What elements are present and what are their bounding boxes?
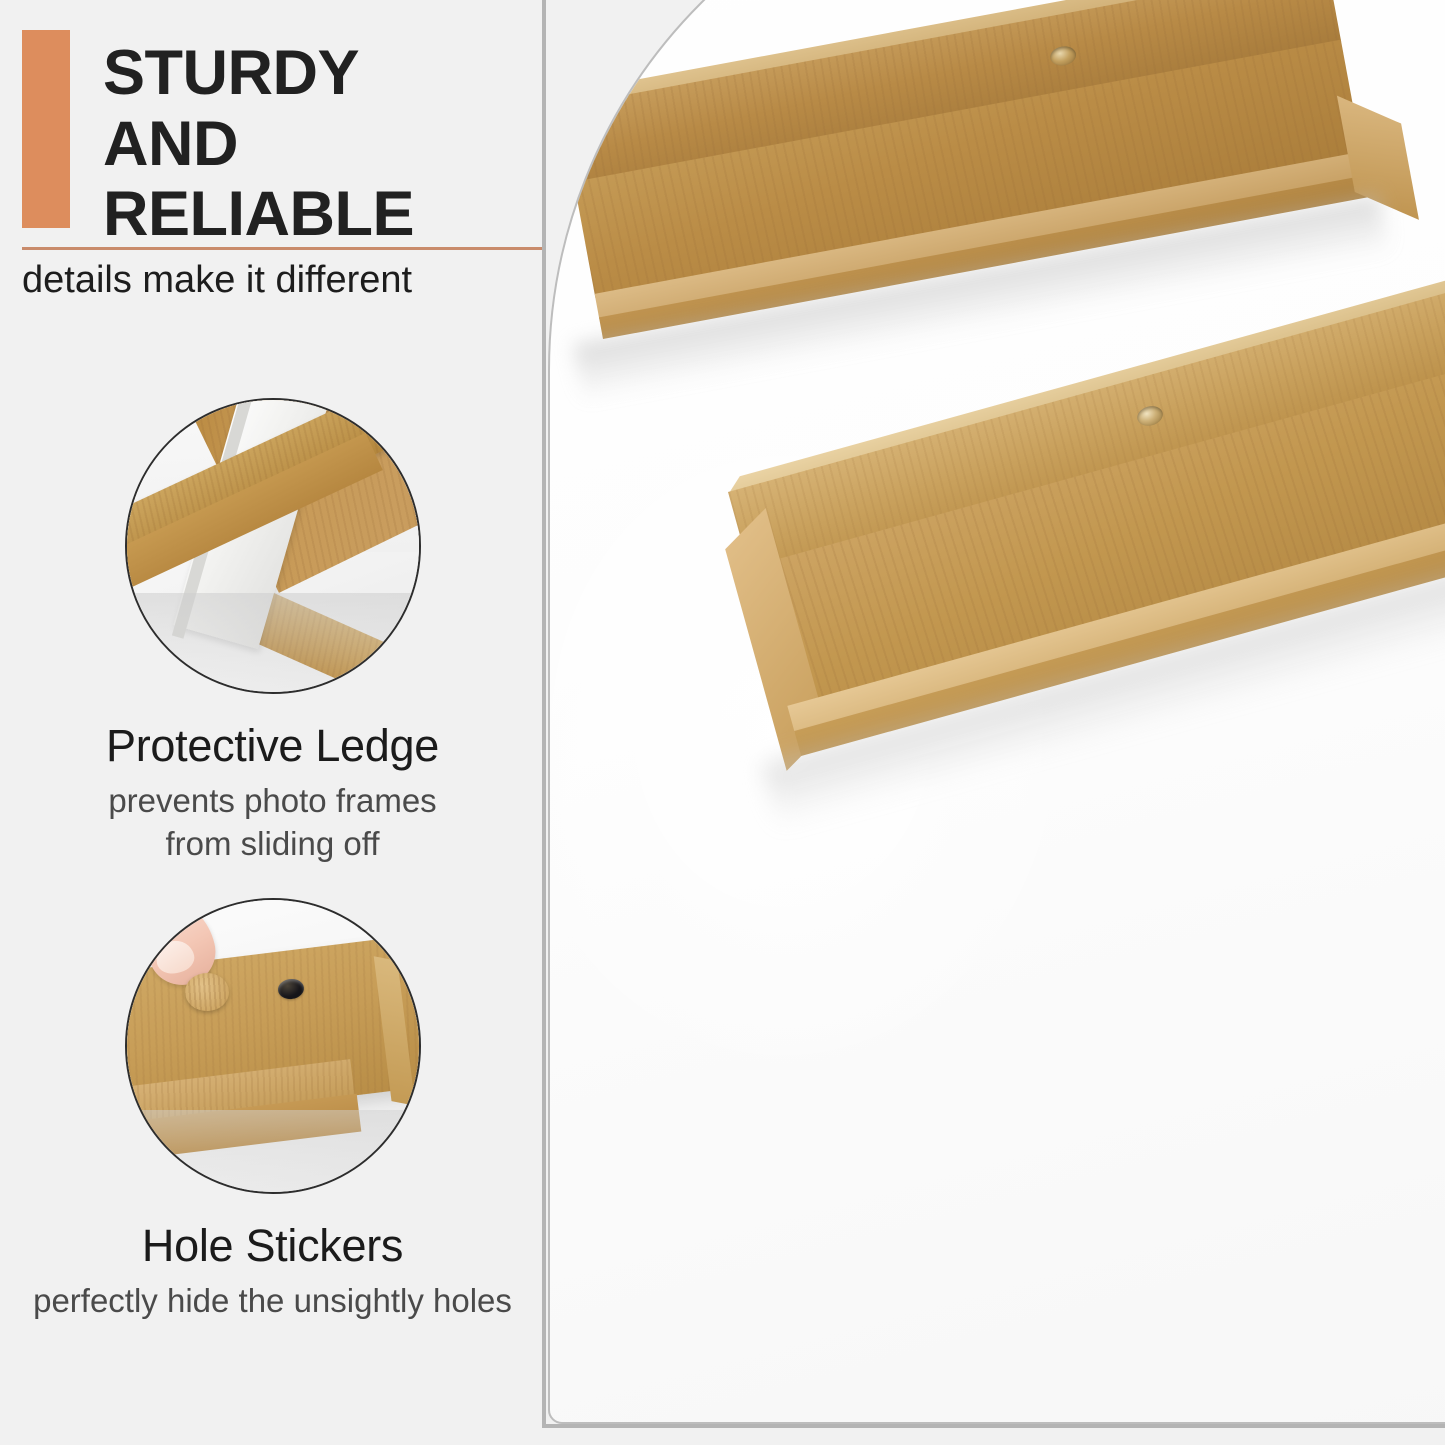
- mounting-hole: [1049, 44, 1078, 67]
- feature-photo-hole-stickers: [125, 898, 421, 1194]
- feature-block-protective-ledge: Protective Ledge prevents photo frames f…: [0, 398, 545, 866]
- left-text-column: STURDY AND RELIABLE details make it diff…: [0, 0, 545, 1445]
- title-line-1: STURDY: [103, 38, 359, 108]
- title-line-2: AND RELIABLE: [103, 109, 543, 250]
- photo-shadow: [127, 1110, 419, 1192]
- shelf-ledge-photo: [127, 400, 419, 692]
- feature-subtitle: perfectly hide the unsightly holes: [0, 1280, 545, 1323]
- feature-block-hole-stickers: Hole Stickers perfectly hide the unsight…: [0, 898, 545, 1323]
- feature-photo-protective-ledge: [125, 398, 421, 694]
- infographic-canvas: STURDY AND RELIABLE details make it diff…: [0, 0, 1445, 1445]
- feature-subtitle-line-1: perfectly hide the unsightly holes: [33, 1282, 512, 1319]
- floating-shelf-upper: [560, 0, 1369, 333]
- feature-title: Protective Ledge: [0, 720, 545, 772]
- feature-subtitle-line-2: from sliding off: [166, 825, 380, 862]
- mounting-hole: [1135, 403, 1165, 428]
- page-title: STURDY AND RELIABLE: [103, 38, 543, 250]
- product-image-panel: [542, 0, 1445, 1428]
- hole-sticker-photo: [127, 900, 419, 1192]
- title-divider: [22, 247, 546, 250]
- photo-shadow: [127, 593, 419, 692]
- feature-subtitle-line-1: prevents photo frames: [108, 782, 436, 819]
- arch-frame: [548, 0, 1445, 1424]
- accent-bar: [22, 30, 70, 228]
- tagline: details make it different: [22, 258, 546, 304]
- feature-title: Hole Stickers: [0, 1220, 545, 1272]
- product-photo: [550, 0, 1445, 1422]
- feature-subtitle: prevents photo frames from sliding off: [0, 780, 545, 866]
- hole-sticker: [185, 973, 229, 1011]
